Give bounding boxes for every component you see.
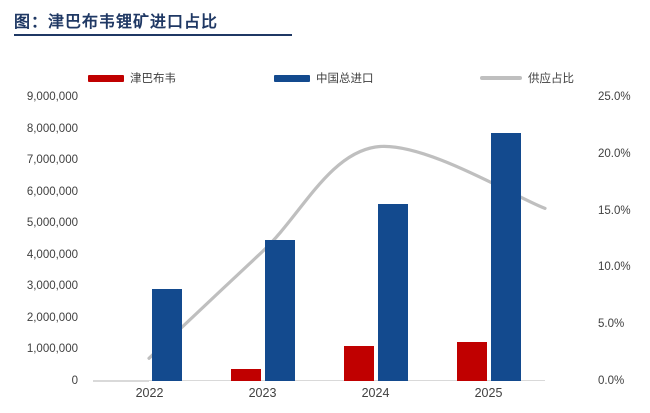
bar-china-total-import-2025 — [491, 133, 521, 381]
bar-zimbabwe-2025 — [457, 342, 487, 381]
legend-label-zimbabwe: 津巴布韦 — [130, 70, 176, 86]
legend-swatch-china-total-import — [274, 75, 310, 82]
y-axis-left-tick: 5,000,000 — [0, 217, 78, 229]
bar-zimbabwe-2024 — [344, 346, 374, 381]
bar-china-total-import-2022 — [152, 289, 182, 381]
legend-label-china-total-import: 中国总进口 — [316, 70, 374, 86]
y-axis-right-tick: 0.0% — [598, 375, 624, 387]
y-axis-left-tick: 1,000,000 — [0, 343, 78, 355]
y-axis-left-tick: 4,000,000 — [0, 249, 78, 261]
y-axis-right-tick: 20.0% — [598, 148, 631, 160]
y-axis-left-tick: 6,000,000 — [0, 186, 78, 198]
x-axis-label-2024: 2024 — [362, 386, 390, 400]
bar-zimbabwe-2023 — [231, 369, 261, 381]
y-axis-right-tick: 25.0% — [598, 91, 631, 103]
y-axis-left-tick: 9,000,000 — [0, 91, 78, 103]
y-axis-left-tick: 7,000,000 — [0, 154, 78, 166]
x-axis-label-2022: 2022 — [136, 386, 164, 400]
y-axis-right-tick: 5.0% — [598, 318, 624, 330]
chart-legend: 津巴布韦 中国总进口 供应占比 — [88, 70, 588, 90]
y-axis-left-tick: 8,000,000 — [0, 123, 78, 135]
x-axis-label-2025: 2025 — [475, 386, 503, 400]
y-axis-left-tick: 2,000,000 — [0, 312, 78, 324]
legend-item-china-total-import: 中国总进口 — [274, 70, 374, 86]
bar-china-total-import-2024 — [378, 204, 408, 381]
legend-line-supply-share — [480, 76, 522, 80]
legend-swatch-zimbabwe — [88, 75, 124, 82]
y-axis-left-tick: 3,000,000 — [0, 280, 78, 292]
y-axis-right: 0.0%5.0%10.0%15.0%20.0%25.0% — [552, 0, 648, 413]
legend-item-zimbabwe: 津巴布韦 — [88, 70, 176, 86]
y-axis-right-tick: 15.0% — [598, 205, 631, 217]
x-axis-label-2023: 2023 — [249, 386, 277, 400]
bar-china-total-import-2023 — [265, 240, 295, 381]
axis-left-stub — [93, 380, 149, 382]
y-axis-right-tick: 10.0% — [598, 261, 631, 273]
y-axis-left-tick: 0 — [0, 375, 78, 387]
y-axis-left: 01,000,0002,000,0003,000,0004,000,0005,0… — [0, 0, 86, 413]
